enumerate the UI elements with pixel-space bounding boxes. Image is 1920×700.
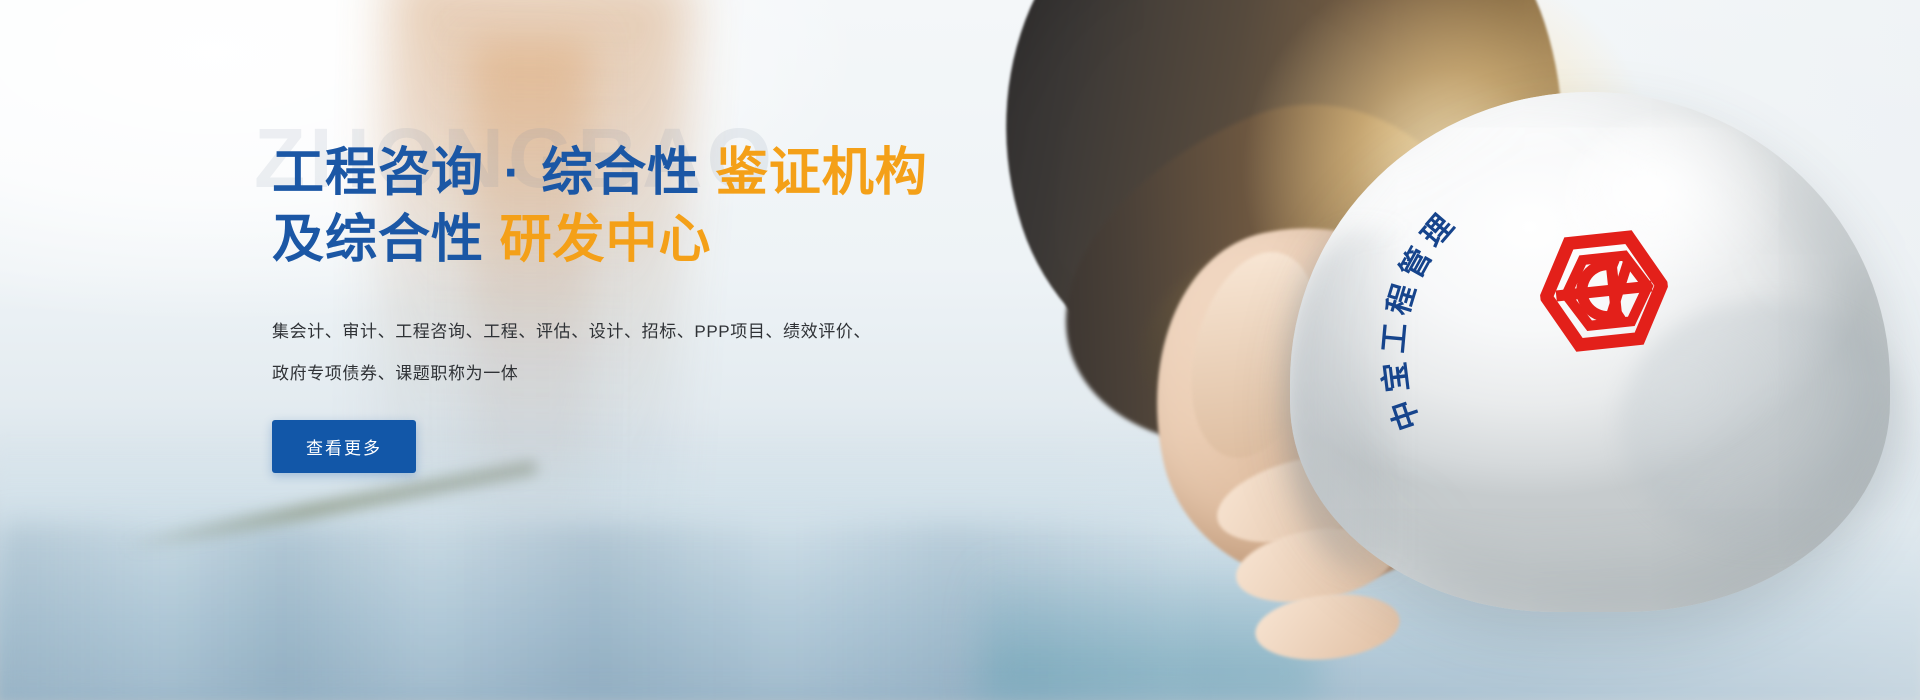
headline-line2-blue: 及综合性 xyxy=(272,211,484,269)
hard-hat-shadow xyxy=(1285,230,1435,570)
headline-line-2: 及综合性 研发中心 xyxy=(272,207,992,274)
hero-description-line-1: 集会计、审计、工程咨询、工程、评估、设计、招标、PPP项目、绩效评价、 xyxy=(272,311,992,353)
headline-line2-orange: 研发中心 xyxy=(499,211,711,269)
headline-line1-blue2: 综合性 xyxy=(541,144,700,202)
headline-separator-dot: · xyxy=(499,144,525,202)
headline-line1-orange: 鉴证机构 xyxy=(716,144,928,202)
page-title: 工程咨询 · 综合性 鉴证机构 及综合性 研发中心 xyxy=(272,140,992,273)
hero-banner: 中宝工程管理 ZHONGBAO xyxy=(0,0,1920,700)
zhongbao-hexagon-logo-icon xyxy=(1534,226,1674,357)
headline-line1-blue: 工程咨询 xyxy=(272,144,484,202)
view-more-button[interactable]: 查看更多 xyxy=(272,420,416,473)
headline-line-1: 工程咨询 · 综合性 鉴证机构 xyxy=(272,140,992,207)
hero-description: 集会计、审计、工程咨询、工程、评估、设计、招标、PPP项目、绩效评价、 政府专项… xyxy=(272,311,992,394)
hero-description-line-2: 政府专项债券、课题职称为一体 xyxy=(272,353,992,395)
hero-content: ZHONGBAO 工程咨询 · 综合性 鉴证机构 及综合性 研发中心 集会计、审… xyxy=(272,140,992,473)
